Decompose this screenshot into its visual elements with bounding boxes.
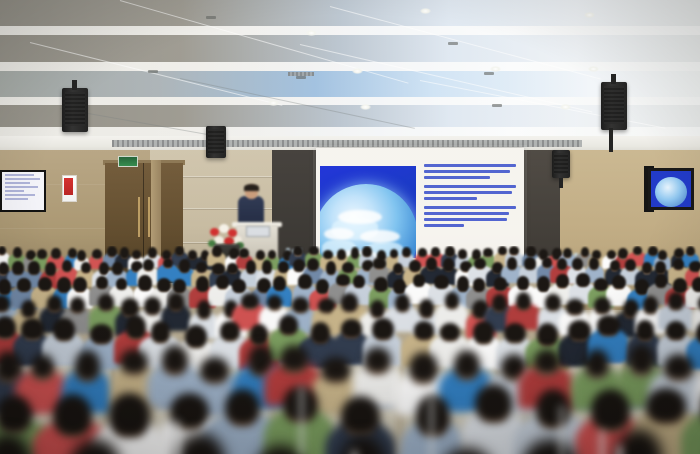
seat-support-frame [600,431,604,454]
wall-speaker-right [552,150,570,178]
audience-member-head [98,294,114,311]
audience-member-head [163,258,173,269]
slide-paragraph [424,185,516,200]
audience-member-head [566,299,584,314]
audience-member-head [168,293,183,311]
audience-member-head [341,396,380,435]
audience-member-head [473,278,486,292]
audience-member-head [353,275,365,288]
audience-member-head [81,262,91,274]
audience-member-head [0,246,6,255]
audience-member-head [53,318,75,341]
audience-member-head [148,247,157,258]
earth-globe-graphic [320,166,416,258]
audience-member-head [666,321,686,340]
audience-member-head [545,294,560,311]
wall-monitor-left [0,170,46,212]
audience-member-head [241,293,259,309]
audience-member-head [526,246,535,256]
audience-member-head [370,300,385,318]
audience-member-head [445,292,459,309]
audience-member-head [341,293,358,312]
audience-member-head [364,347,391,373]
audience-member-head [220,321,240,341]
ceiling-speaker-left-bracket [72,80,77,90]
audience-member-head [138,275,152,290]
audience-member-head [395,294,410,312]
audience-member-head [292,297,309,313]
audience-member-head [607,250,616,259]
wall-monitor-right-screen [651,171,691,207]
audience-member-head [250,324,268,345]
audience-member-head [589,257,599,270]
audience-member-head [473,321,494,344]
audience-member-head [692,277,700,291]
seat-support-frame [300,386,303,454]
audience-member-head [475,384,512,422]
audience-member-head [664,354,693,380]
audience-member-head [132,250,142,259]
audience-member-head [256,250,265,260]
audience-member-head [646,388,686,423]
audience-member-head [373,258,385,269]
audience-member-head [686,246,695,256]
audience-member-head [374,277,388,291]
audience-member-head [246,260,256,274]
podium-laptop [246,226,270,237]
audience-member-head [232,279,246,293]
audience-member-head [409,260,421,272]
audience-member-head [507,257,517,270]
audience-member-head [179,259,191,272]
wall-speaker-left [206,126,226,158]
audience-member-head [668,292,684,310]
audience-member-head [556,274,569,288]
audience-member-head [200,357,229,383]
audience-member-head [75,350,100,381]
audience-member-head [581,247,589,257]
audience-member-head [594,278,608,290]
audience-member-head [673,278,687,293]
audience-member-head [323,250,333,259]
audience-member-head [13,247,22,258]
seated-audience [0,246,700,454]
audience-member-head [542,257,552,268]
audience-member-head [576,273,589,287]
audience-member-head [196,276,210,292]
audience-member-head [0,351,22,382]
audience-member-head [393,263,403,275]
audience-member-head [37,249,47,259]
audience-member-head [655,261,666,275]
audience-member-head [31,354,55,379]
audience-member-head [594,297,611,314]
audience-member-head [612,275,626,290]
audience-member-head [585,349,609,377]
audience-member-head [216,275,229,289]
audience-member-head [267,295,282,310]
wall-monitor-right [648,168,694,210]
audience-member-head [504,323,526,343]
audience-member-head [431,247,440,256]
audience-member-head [673,259,684,270]
audience-member-head [307,258,319,271]
audience-member-head [390,249,398,258]
audience-member-head [151,321,170,343]
audience-member-head [509,246,519,255]
audience-member-head [454,350,480,379]
audience-member-head [143,259,154,272]
audience-member-head [597,315,620,336]
wall-monitor-left-screen [2,172,44,210]
lecture-hall-photo [0,0,700,454]
audience-member-head [68,248,77,258]
audience-member-head [53,394,92,436]
exit-sign-icon [118,156,138,167]
audience-member-head [162,345,188,375]
audience-member-head [342,262,354,273]
audience-member-head [188,250,197,259]
audience-member-head [413,274,425,287]
audience-member-head [443,258,453,272]
audience-member-head [458,249,468,259]
audience-member-head [280,345,309,372]
seat-support-frame [617,446,622,454]
audience-member-head [120,349,148,374]
audience-member-head [126,315,146,339]
audience-member-head [196,262,207,273]
audience-member-head [341,319,362,339]
audience-member-head [17,278,30,292]
audience-member-head [77,250,86,261]
audience-member-head [70,297,85,313]
audience-member-head [0,395,32,432]
audience-member-head [591,389,630,431]
audience-member-head [426,257,437,270]
monitor-globe-graphic [655,177,687,207]
audience-member-head [517,276,530,290]
audience-member-head [655,274,666,288]
audience-member-head [144,297,160,315]
audience-member-head [494,277,507,290]
ceiling-speaker-right-bracket [611,74,616,84]
audience-member-head [326,261,336,274]
seat-support-frame [430,396,433,454]
audience-member-head [112,262,122,275]
audience-member-head [474,258,485,270]
audience-member-head [568,320,590,342]
audience-member-head [212,246,222,257]
audience-member-head [279,315,298,335]
audience-member-head [225,389,260,425]
audience-member-head [109,393,149,436]
seat-support-frame [560,406,563,454]
audience-member-head [636,320,654,341]
audience-member-head [648,246,658,256]
slide-paragraph [424,164,516,179]
audience-member-head [268,250,276,260]
audience-member-head [492,294,507,312]
audience-member-head [516,292,531,311]
audience-member-head [21,318,44,340]
audience-member-head [362,246,372,257]
audience-member-head [96,276,108,289]
audience-member-head [633,246,642,255]
audience-member-head [107,246,117,257]
audience-member-head [12,261,24,275]
audience-member-head [227,263,238,274]
audience-member-head [45,262,56,276]
audience-member-head [273,276,286,291]
audience-member-head [498,246,507,255]
audience-member-head [298,274,312,288]
audience-member-head [90,324,113,344]
audience-member-head [51,248,60,259]
audience-member-head [418,248,426,257]
audience-member-head [62,260,72,272]
audience-member-head [309,246,319,255]
audience-member-head [643,296,658,314]
audience-member-head [316,279,328,294]
audience-member-head [402,247,411,257]
seat-support-frame [175,421,179,454]
audience-member-head [440,323,461,342]
audience-member-head [625,259,635,271]
audience-member-head [536,389,570,428]
presenter-hair [244,184,259,191]
audience-member-head [185,325,207,348]
audience-member-head [0,279,11,294]
audience-member-head [47,295,62,312]
audience-member-head [409,352,438,383]
audience-member-head [21,300,36,318]
audience-member-head [293,246,303,256]
audience-member-head [337,249,347,260]
audience-member-head [572,258,582,270]
audience-member-head [336,274,350,287]
audience-member-head [629,344,654,375]
ceiling-speaker-right-pole [609,128,613,152]
audience-member-head [175,246,184,256]
audience-member-head [73,277,86,292]
audience-member-head [610,260,620,271]
audience-member-head [537,323,558,346]
audience-member-head [618,248,628,259]
audience-member-head [262,260,272,273]
slatted-metal-ceiling [0,0,700,152]
ceiling-speaker-left [62,88,88,132]
audience-member-head [689,261,700,272]
audience-member-head [537,276,550,292]
slide-text-block [424,164,516,250]
audience-member-head [311,322,330,343]
audience-member-head [92,249,102,259]
audience-member-head [121,298,139,316]
audience-member-head [534,349,560,374]
audience-member-head [38,277,52,292]
wall-notice-sign-red-band [64,178,73,195]
audience-member-head [416,395,450,436]
audience-member-head [321,357,351,382]
audience-member-head [372,318,393,340]
audience-member-head [445,246,455,257]
ceiling-speaker-right [601,82,627,130]
audience-member-head [116,278,128,290]
audience-member-head [197,300,211,319]
slide-paragraph [424,206,516,227]
wall-speaker-right-mount [559,178,563,188]
audience-member-head [524,257,535,269]
audience-member-head [351,247,359,258]
audience-member-head [414,321,435,340]
audience-member-head [457,276,469,292]
audience-member-head [28,261,39,275]
audience-member-head [658,250,667,260]
audience-member-head [483,248,492,257]
audience-member-head [419,299,434,318]
audience-member-head [120,247,129,258]
audience-member-head [557,258,567,270]
audience-member-head [173,279,186,292]
audience-member-head [434,275,449,289]
